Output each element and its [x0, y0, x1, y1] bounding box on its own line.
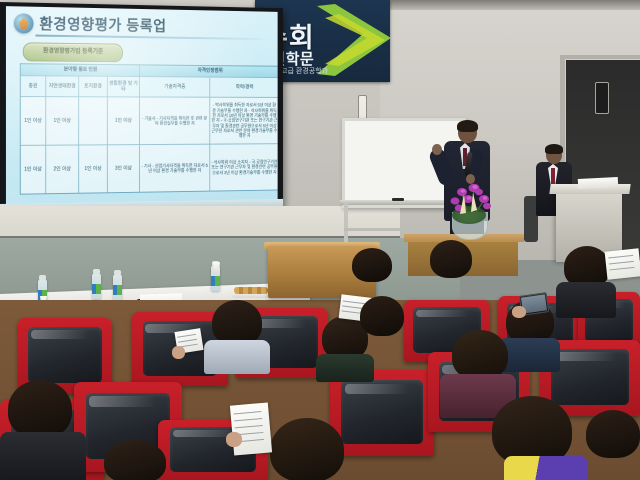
cell-land [79, 97, 108, 144]
table-column-header-row: 총원 자연생태환경 토지환경 생활환경 및 기타 기술자격증 학력/경력 [21, 76, 278, 98]
handout [605, 248, 640, 279]
audience-torso [0, 432, 86, 480]
presentation-slide: 환경영향평가 등록업 환경영향평가업 등록기준 분야별 필요 인원 자격인정범위… [6, 6, 278, 204]
audience-member [0, 380, 86, 480]
emblem-icon [14, 13, 34, 33]
snack-cookies [234, 287, 268, 294]
audience-hand [172, 346, 185, 359]
slide-title: 환경영향평가 등록업 [39, 13, 166, 36]
cell-career: - 석사학위 이상 소지자 - 국·공립연구기관 또는 연구기관 근무자 및 환… [210, 144, 277, 190]
cell-living: 3인 이상 [108, 145, 140, 192]
cell-certificate: - 기사 - 산업기사자격을 취득한 자로서 5년 이상 환경 기술무를 수행한… [140, 145, 210, 192]
cell-total: 1인 이상 [21, 146, 46, 194]
lecture-hall-photo: 수회 구전학문 고급 환경공학과 환경영향평가 등록업 환경영향평가업 등록기준… [0, 0, 640, 480]
group-header-personnel: 분야별 필요 인원 [21, 64, 140, 76]
table-row: 1인 이상 2인 이상 1인 이상 3인 이상 - 기사 - 산업기사자격을 취… [21, 144, 278, 193]
audience-head [104, 440, 166, 480]
audience-hand [226, 432, 242, 447]
audience-head [352, 248, 392, 282]
presenter-hair [457, 120, 478, 132]
group-header-qualification: 자격인정범위 [140, 65, 278, 77]
col-living: 생활환경 및 기타 [108, 77, 140, 97]
audience-head [452, 330, 508, 380]
presenter-left-hand [432, 144, 442, 155]
audience-member [356, 296, 408, 352]
audience-head [586, 410, 640, 458]
slide-table: 분야별 필요 인원 자격인정범위 총원 자연생태환경 토지환경 생활환경 및 기… [20, 63, 278, 194]
audience-head [8, 380, 72, 438]
col-certificate: 기술자격증 [140, 77, 210, 97]
table-row: 1인 이상 1인 이상 1인 이상 - 기술사 - 기사자격을 취득한 후 관련… [21, 97, 278, 146]
water-bottle [92, 273, 101, 299]
slide-subtitle-text: 환경영향평가업 등록기준 [24, 43, 122, 61]
cell-nature: 1인 이상 [46, 97, 79, 145]
audience-member [104, 440, 178, 480]
audience-torso [504, 456, 588, 480]
cell-total: 1인 이상 [21, 97, 46, 145]
water-bottle [113, 274, 122, 300]
audience-head [360, 296, 404, 336]
cell-career: - 박사학위를 취득한 자로서 5년 이상 환경 기술무를 수행한 자 - 석사… [210, 98, 277, 144]
slide-subtitle-pill: 환경영향평가업 등록기준 [23, 42, 123, 62]
cell-certificate: - 기술사 - 기사자격을 취득한 후 관련 분야 환경실무를 수행한 자 [140, 97, 210, 144]
audience-member [352, 248, 396, 284]
col-nature: 자연생태환경 [46, 76, 79, 96]
audience-torso [204, 340, 270, 374]
screen-surface: 환경영향평가 등록업 환경영향평가업 등록기준 분야별 필요 인원 자격인정범위… [6, 6, 278, 204]
cell-living: 1인 이상 [108, 97, 140, 144]
handout [230, 402, 272, 455]
audience-member [202, 300, 272, 370]
audience-head [430, 240, 472, 278]
audience-hand [512, 306, 526, 318]
col-career: 학력/경력 [210, 78, 277, 97]
audience-torso [316, 354, 374, 382]
banner-line-3: 고급 환경공학과 [281, 66, 328, 76]
whiteboard-marker-icon [392, 198, 404, 201]
orchid-arrangement [440, 168, 500, 224]
audience-head [270, 418, 344, 480]
projection-screen: 환경영향평가 등록업 환경영향평가업 등록기준 분야별 필요 인원 자격인정범위… [0, 2, 283, 224]
audience-torso [556, 282, 616, 318]
moderator-hair [545, 144, 563, 154]
audience-member [482, 396, 588, 480]
cell-nature: 2인 이상 [46, 145, 79, 193]
audience-member [424, 240, 476, 290]
cell-land: 1인 이상 [79, 145, 108, 192]
col-land: 토지환경 [79, 77, 108, 97]
audience-member [586, 410, 640, 480]
wall-mounted-device-icon [595, 82, 609, 114]
col-total: 총원 [21, 76, 46, 96]
podium-papers [578, 177, 618, 189]
